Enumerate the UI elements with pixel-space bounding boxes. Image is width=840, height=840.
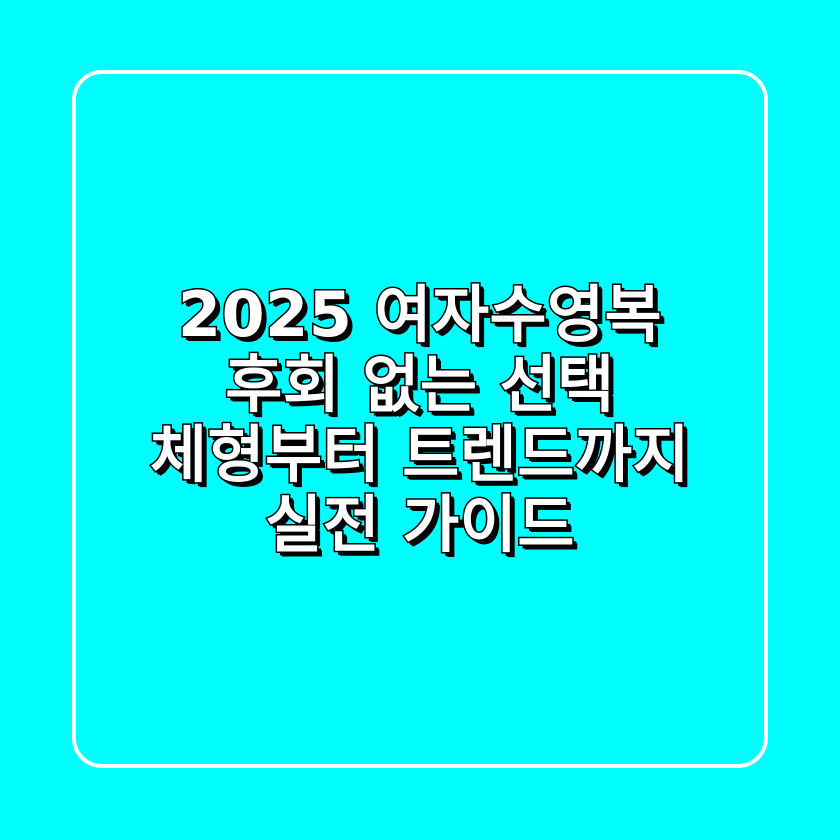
headline-line-4: 실전 가이드 xyxy=(265,490,575,560)
headline-line-2: 후회 없는 선택 xyxy=(225,350,614,420)
poster-canvas: 2025 여자수영복 후회 없는 선택 체형부터 트렌드까지 실전 가이드 xyxy=(0,0,840,840)
headline-line-1: 2025 여자수영복 xyxy=(178,280,662,350)
headline-text-block: 2025 여자수영복 후회 없는 선택 체형부터 트렌드까지 실전 가이드 xyxy=(70,280,770,560)
headline-line-3: 체형부터 트렌드까지 xyxy=(150,420,690,490)
